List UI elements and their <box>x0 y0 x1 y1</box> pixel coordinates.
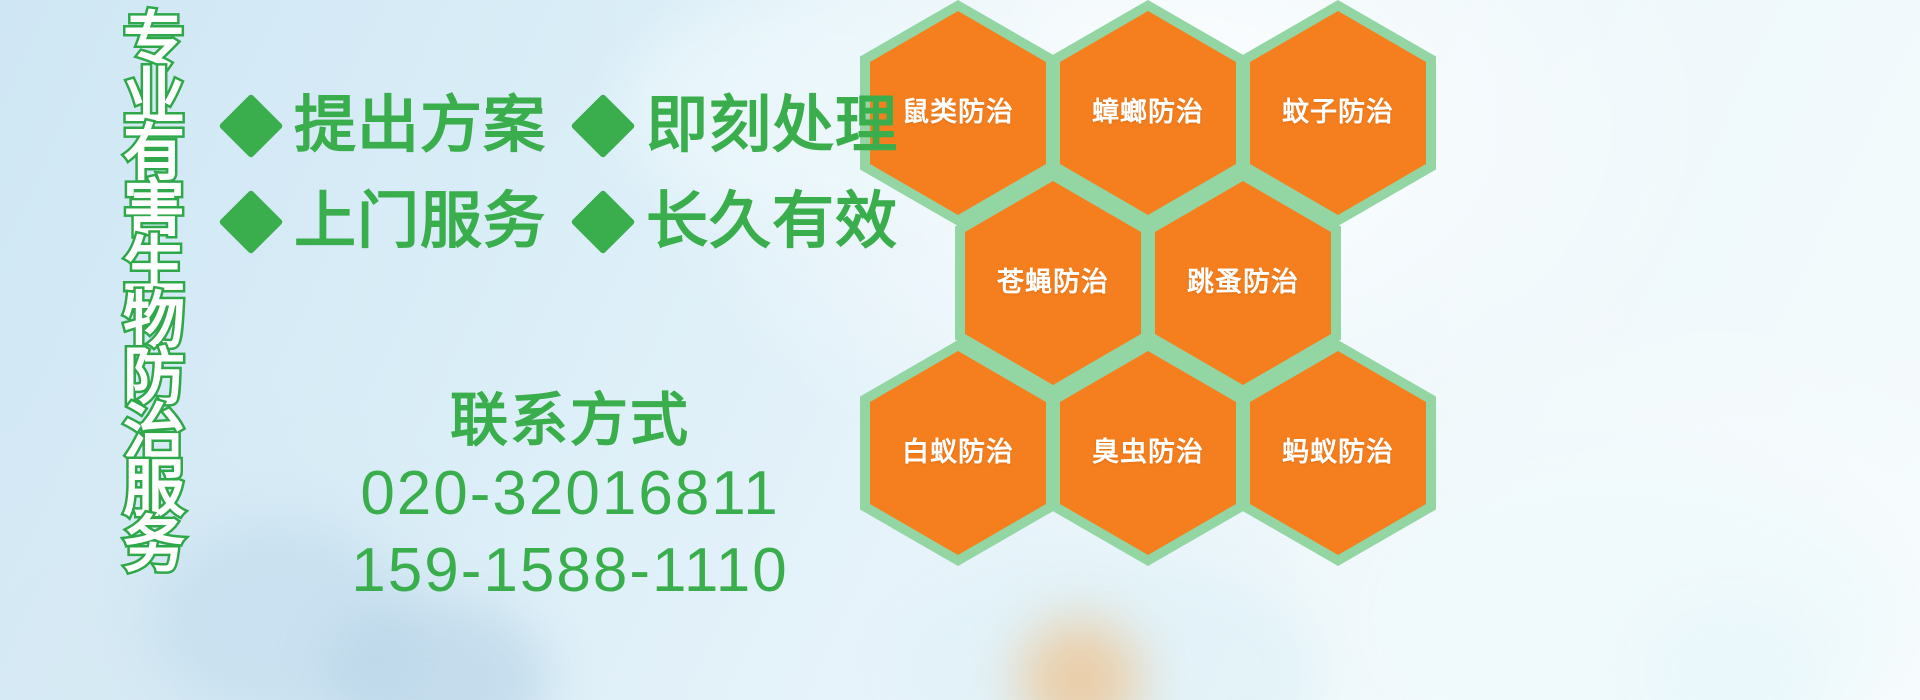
feature-label: 上门服务 <box>294 191 546 253</box>
service-hex-label: 鼠类防治 <box>902 98 1014 128</box>
hex-inner: 蚊子防治 <box>1250 11 1426 215</box>
hex-inner: 跳蚤防治 <box>1155 181 1331 385</box>
service-hex-label: 苍蝇防治 <box>997 268 1109 298</box>
service-hex-label: 臭虫防治 <box>1092 438 1204 468</box>
service-hex-label: 跳蚤防治 <box>1187 268 1299 298</box>
feature-item-onsite-service: 上门服务 <box>228 191 546 253</box>
contact-title: 联系方式 <box>300 388 840 455</box>
service-honeycomb: 鼠类防治 蟑螂防治 蚊子防治 苍蝇防治 跳蚤防治 白蚁防治 <box>852 0 1472 700</box>
feature-row: 上门服务 长久有效 <box>228 174 898 270</box>
hex-inner: 苍蝇防治 <box>965 181 1141 385</box>
service-hex-label: 白蚁防治 <box>902 438 1014 468</box>
vertical-headline-char: 务 <box>123 518 185 574</box>
feature-label: 即刻处理 <box>646 95 898 157</box>
hex-inner: 蚂蚁防治 <box>1250 351 1426 555</box>
feature-item-long-lasting: 长久有效 <box>580 191 898 253</box>
diamond-icon <box>570 189 635 254</box>
diamond-icon <box>218 189 283 254</box>
feature-list: 提出方案 即刻处理 上门服务 长久有效 <box>228 78 898 270</box>
feature-item-propose-plan: 提出方案 <box>228 95 546 157</box>
diamond-icon <box>570 93 635 158</box>
hex-inner: 臭虫防治 <box>1060 351 1236 555</box>
service-hex-label: 蚊子防治 <box>1282 98 1394 128</box>
vertical-headline-char: 有 <box>123 126 185 182</box>
vertical-headline-char: 专 <box>123 14 185 70</box>
service-hex-label: 蟑螂防治 <box>1092 98 1204 128</box>
banner-canvas: 专 业 有 害 生 物 防 治 服 务 提出方案 即刻处理 上门服务 <box>0 0 1920 700</box>
service-hex-label: 蚂蚁防治 <box>1282 438 1394 468</box>
vertical-headline: 专 业 有 害 生 物 防 治 服 务 <box>108 14 200 574</box>
background-blur-blob <box>330 600 550 700</box>
hex-inner: 蟑螂防治 <box>1060 11 1236 215</box>
vertical-headline-char: 害 <box>123 182 185 238</box>
vertical-headline-char: 业 <box>123 70 185 126</box>
hex-inner: 白蚁防治 <box>870 351 1046 555</box>
vertical-headline-char: 服 <box>123 462 185 518</box>
feature-label: 长久有效 <box>646 191 898 253</box>
contact-phone-mobile[interactable]: 159-1588-1110 <box>300 532 840 610</box>
background-blur-blob <box>1640 600 1820 700</box>
vertical-headline-char: 防 <box>123 350 185 406</box>
feature-label: 提出方案 <box>294 95 546 157</box>
feature-row: 提出方案 即刻处理 <box>228 78 898 174</box>
diamond-icon <box>218 93 283 158</box>
contact-phone-landline[interactable]: 020-32016811 <box>300 455 840 533</box>
vertical-headline-char: 物 <box>123 294 185 350</box>
feature-item-immediate-handling: 即刻处理 <box>580 95 898 157</box>
vertical-headline-char: 治 <box>123 406 185 462</box>
vertical-headline-char: 生 <box>123 238 185 294</box>
contact-block: 联系方式 020-32016811 159-1588-1110 <box>300 388 840 610</box>
